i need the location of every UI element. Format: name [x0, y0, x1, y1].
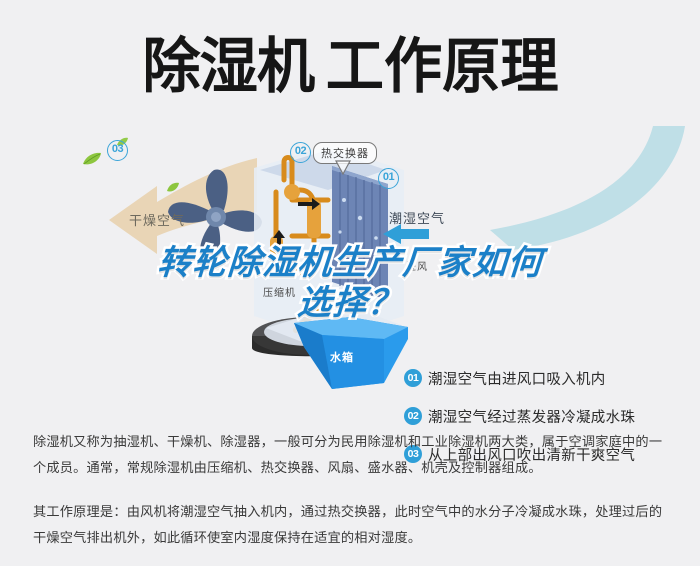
page-title: 除湿机工作原理 [0, 22, 700, 112]
badge-02-diagram: 02 [290, 142, 311, 163]
infographic-page: 除湿机工作原理 [0, 0, 700, 566]
badge-03-diagram: 03 [107, 140, 128, 161]
badge-01-diagram: 01 [378, 168, 399, 189]
legend-item: 01 潮湿空气由进风口吸入机内 [404, 359, 700, 397]
paragraph-2: 其工作原理是：由风机将潮湿空气抽入机内，通过热交换器，此时空气中的水分子冷凝成水… [33, 499, 673, 551]
title-part-1: 除湿机 [142, 33, 314, 100]
dehumidifier-diagram: 水箱 03 干燥空气 02 热交换器 01 潮湿空气 进风 压缩机 01 潮湿空… [0, 112, 700, 402]
leaf-icon [82, 152, 102, 171]
legend-text-01: 潮湿空气由进风口吸入机内 [428, 368, 606, 389]
water-tank-label: 水箱 [330, 349, 354, 365]
paragraph-1: 除湿机又称为抽湿机、干燥机、除湿器，一般可分为民用除湿机和工业除湿机两大类，属于… [33, 429, 673, 481]
humid-air-arc [395, 126, 695, 256]
compressor-label: 压缩机 [263, 284, 296, 299]
title-part-2: 工作原理 [325, 33, 558, 100]
dry-air-label: 干燥空气 [129, 210, 185, 229]
article-body: 除湿机又称为抽湿机、干燥机、除湿器，一般可分为民用除湿机和工业除湿机两大类，属于… [33, 416, 673, 564]
intake-label: 进风 [406, 258, 428, 273]
intake-arrow-icon [383, 224, 429, 249]
legend-badge-01: 01 [404, 369, 422, 387]
title-text: 除湿机工作原理 [142, 37, 558, 97]
callout-pointer-icon [334, 160, 352, 181]
